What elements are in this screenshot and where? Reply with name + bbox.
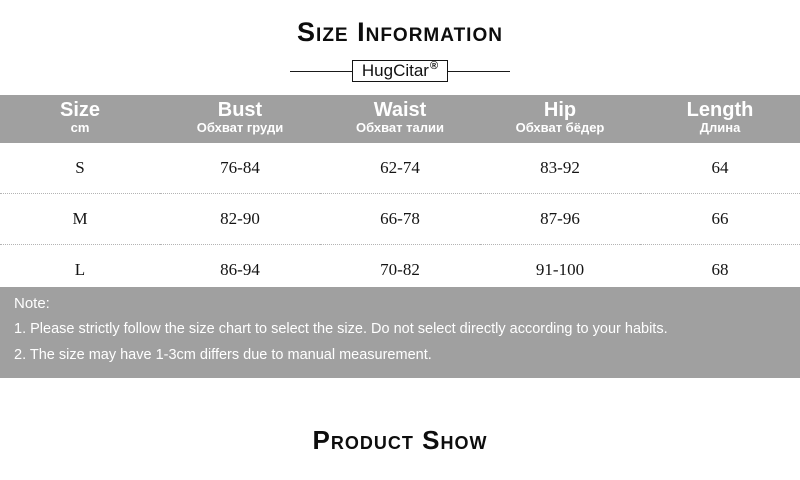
brand-logo-row: HugCitar ® [0,58,800,84]
column-header-size-label: Size [0,100,160,121]
note-heading: Note: [14,296,800,311]
table-row: M 82-90 66-78 87-96 66 [0,194,800,245]
table-header: Size cm Bust Обхват груди Waist Обхват т… [0,95,800,143]
cell-hip: 83-92 [480,143,640,194]
table-header-row: Size cm Bust Обхват груди Waist Обхват т… [0,95,800,143]
cell-size: S [0,143,160,194]
note-line-1: 1. Please strictly follow the size chart… [14,322,800,337]
column-header-size: Size cm [0,95,160,143]
size-information-page: { "header": { "title": "Size Information… [0,0,800,480]
column-header-bust-sublabel: Обхват груди [160,121,320,136]
column-header-hip-label: Hip [480,100,640,121]
brand-name: HugCitar [362,62,429,79]
cell-waist: 62-74 [320,143,480,194]
column-header-length-label: Length [640,100,800,121]
column-header-length-sublabel: Длина [640,121,800,136]
cell-bust: 82-90 [160,194,320,245]
note-line-2: 2. The size may have 1-3cm differs due t… [14,348,800,363]
column-header-size-sublabel: cm [0,121,160,136]
table-row: S 76-84 62-74 83-92 64 [0,143,800,194]
cell-waist: 66-78 [320,194,480,245]
brand-rule-left [290,71,352,72]
column-header-waist: Waist Обхват талии [320,95,480,143]
column-header-length: Length Длина [640,95,800,143]
cell-bust: 76-84 [160,143,320,194]
product-show-block: Product Show [0,425,800,456]
cell-hip: 87-96 [480,194,640,245]
product-show-title: Product Show [0,425,800,456]
note-block: Note: 1. Please strictly follow the size… [0,287,800,378]
brand-logo: HugCitar ® [352,60,448,82]
column-header-hip-sublabel: Обхват бёдер [480,121,640,136]
column-header-bust: Bust Обхват груди [160,95,320,143]
column-header-bust-label: Bust [160,100,320,121]
column-header-waist-sublabel: Обхват талии [320,121,480,136]
table-body: S 76-84 62-74 83-92 64 M 82-90 66-78 87-… [0,143,800,295]
page-title: Size Information [0,18,800,46]
column-header-waist-label: Waist [320,100,480,121]
cell-length: 66 [640,194,800,245]
page-title-block: Size Information [0,18,800,46]
brand-rule-right [448,71,510,72]
registered-trademark-icon: ® [430,61,438,72]
cell-size: M [0,194,160,245]
size-chart-table: Size cm Bust Обхват груди Waist Обхват т… [0,95,800,295]
cell-length: 64 [640,143,800,194]
column-header-hip: Hip Обхват бёдер [480,95,640,143]
